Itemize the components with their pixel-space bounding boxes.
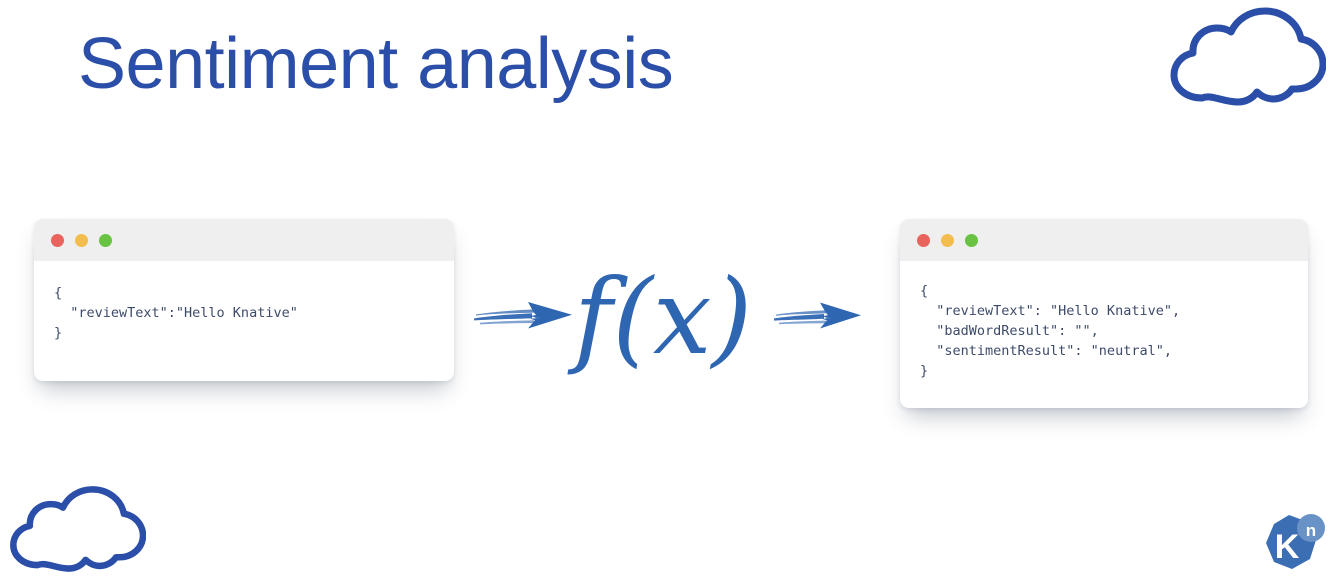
input-json-code: { "reviewText":"Hello Knative" } [34,261,454,363]
close-button-dot[interactable] [51,234,64,247]
knative-logo: K n [1259,511,1329,584]
function-symbol: f(x) [568,252,758,382]
output-json-window: { "reviewText": "Hello Knative", "badWor… [900,219,1308,408]
maximize-button-dot[interactable] [99,234,112,247]
arrow-right-icon [772,296,864,341]
close-button-dot[interactable] [917,234,930,247]
output-json-code: { "reviewText": "Hello Knative", "badWor… [900,261,1308,401]
cloud-icon [1166,6,1326,119]
maximize-button-dot[interactable] [965,234,978,247]
page-title: Sentiment analysis [78,28,673,100]
minimize-button-dot[interactable] [941,234,954,247]
window-titlebar [900,219,1308,261]
knative-letter-n: n [1306,521,1316,540]
minimize-button-dot[interactable] [75,234,88,247]
cloud-icon [6,485,146,584]
knative-letter-k: K [1275,528,1300,566]
window-titlebar [34,219,454,261]
input-json-window: { "reviewText":"Hello Knative" } [34,219,454,381]
arrow-right-icon [472,294,576,341]
